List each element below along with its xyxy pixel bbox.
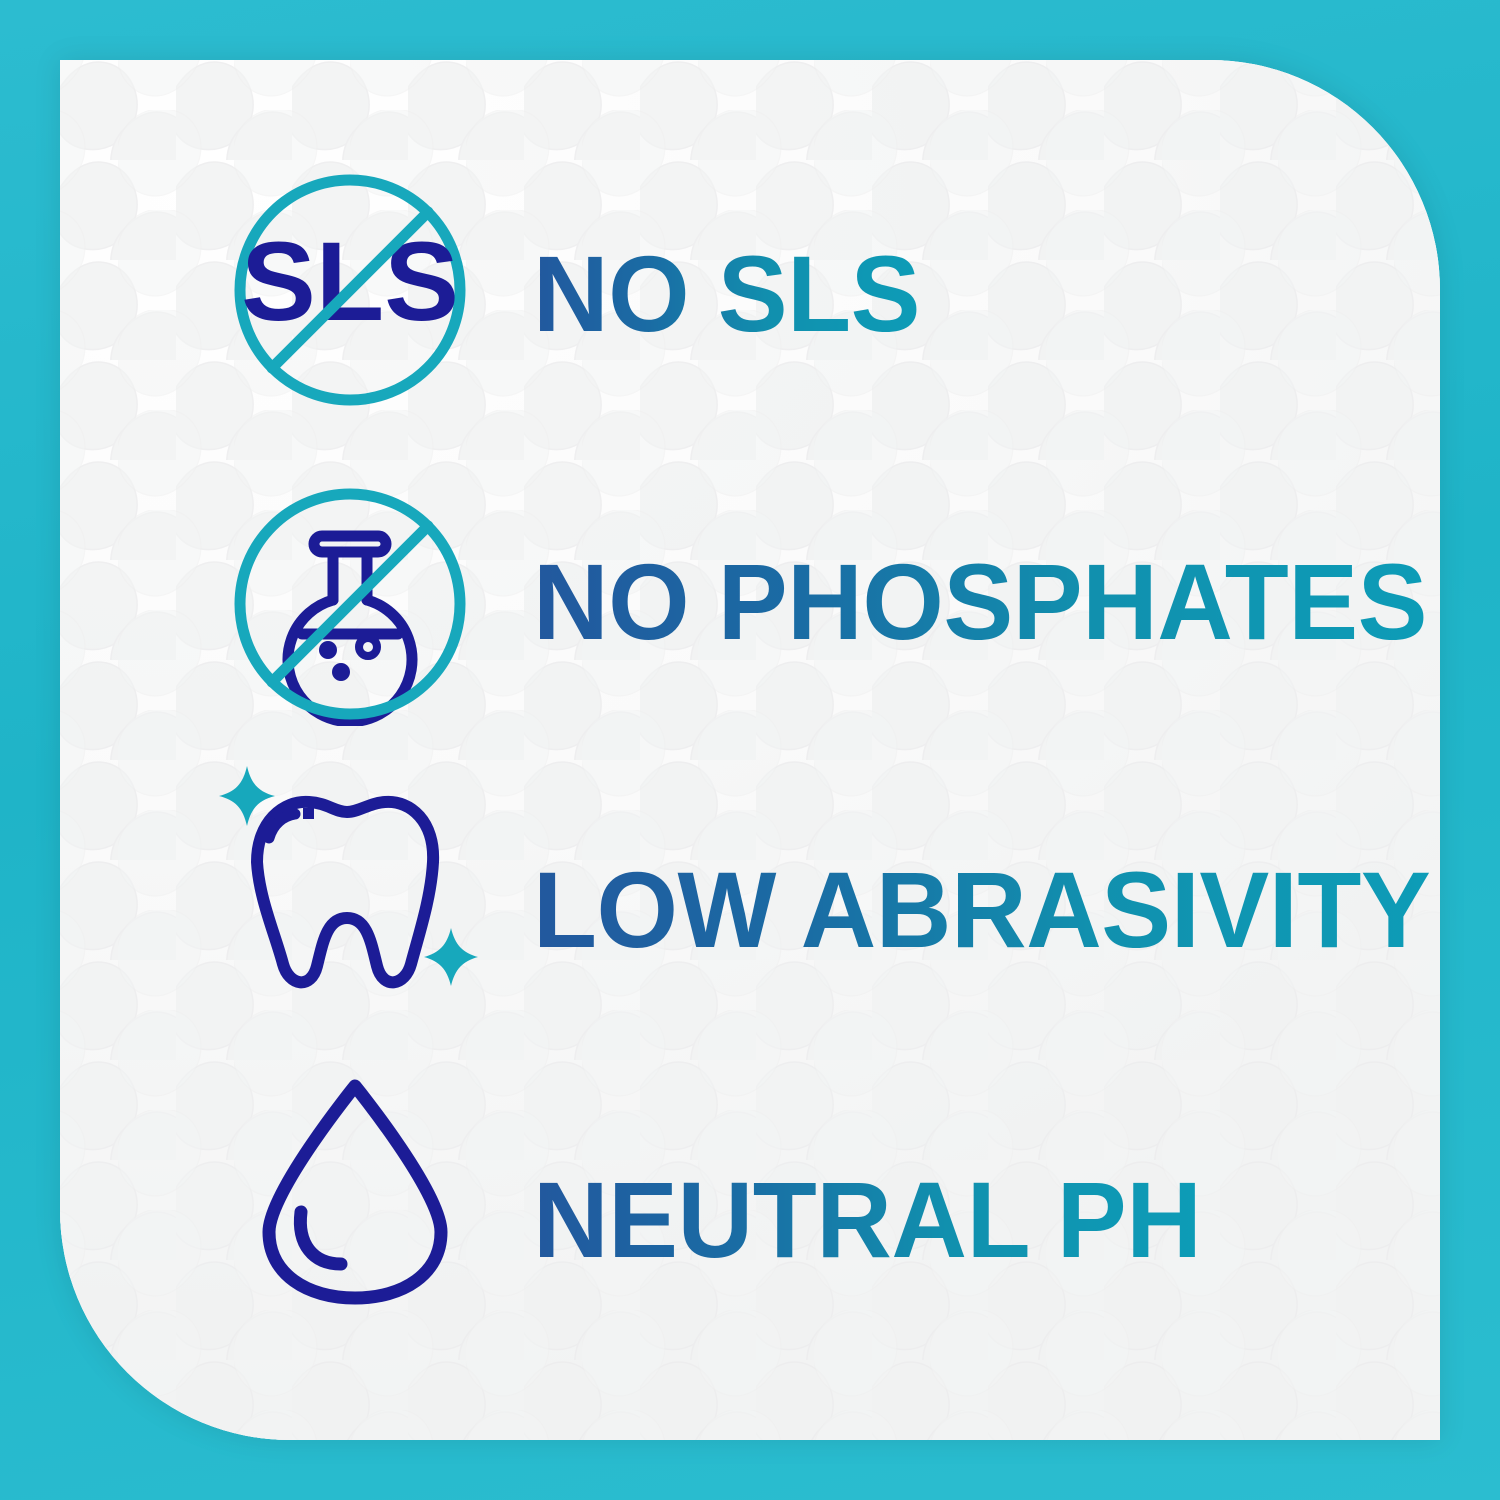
flask-bubble-2 <box>332 663 350 681</box>
benefit-row-low-abrasivity <box>215 758 485 1033</box>
benefit-row-no-phosphates <box>228 482 472 731</box>
benefit-label-no-phosphates: NO PHOSPHATES <box>533 548 1427 656</box>
tooth-sparkle-icon <box>215 758 485 1028</box>
benefit-row-neutral-ph <box>255 1072 455 1313</box>
no-phosphates-flask-prohibition-icon <box>228 482 472 726</box>
flask-bubble-3 <box>359 638 377 656</box>
poster-canvas: SLS NO SLS <box>0 0 1500 1500</box>
droplet-highlight-arc <box>300 1212 341 1264</box>
sls-icon-text: SLS <box>241 219 459 344</box>
benefit-label-neutral-ph: NEUTRAL PH <box>533 1166 1201 1274</box>
water-droplet-icon <box>255 1072 455 1308</box>
benefit-row-no-sls: SLS <box>228 168 472 417</box>
sparkle-bottom-right-icon <box>424 928 478 986</box>
benefit-label-low-abrasivity: LOW ABRASIVITY <box>533 856 1430 964</box>
no-sls-prohibition-icon: SLS <box>228 168 472 412</box>
tooth-shine-dot <box>303 808 314 819</box>
flask-bubble-1 <box>319 641 337 659</box>
benefit-rows: SLS NO SLS <box>0 0 1500 1500</box>
benefit-label-no-sls: NO SLS <box>533 240 920 348</box>
